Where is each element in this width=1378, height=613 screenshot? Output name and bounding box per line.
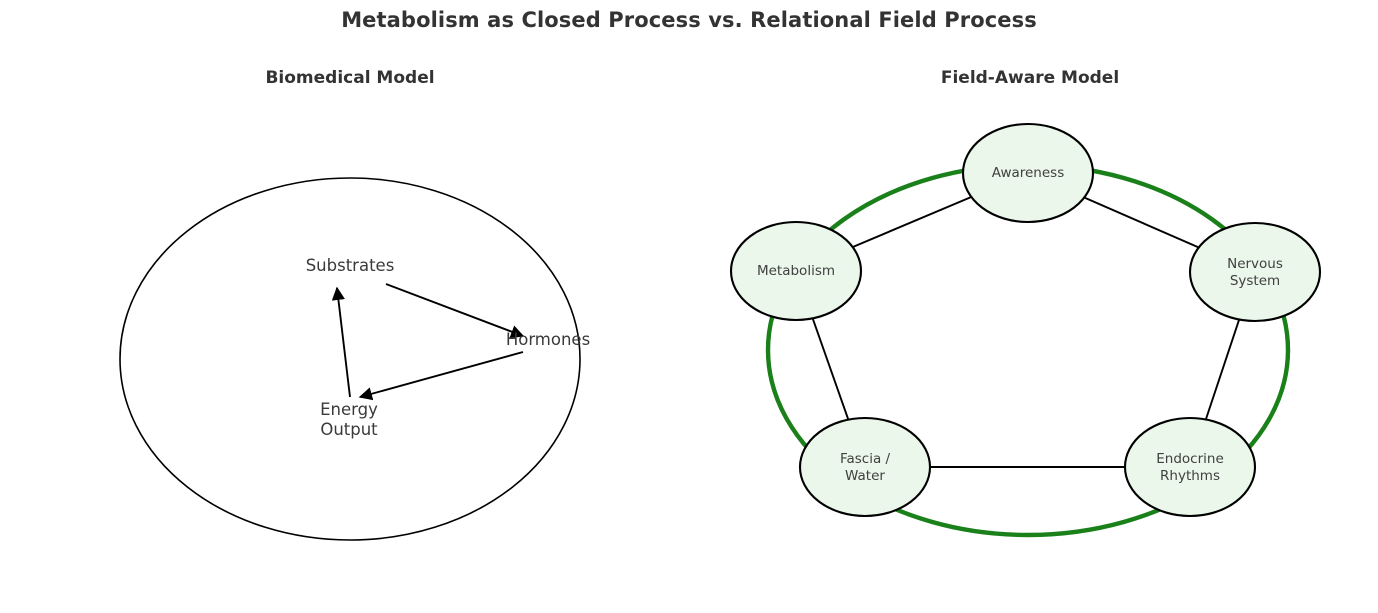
node-label-substrates: Substrates — [306, 256, 395, 275]
node-label-fascia_water: Fascia /Water — [840, 451, 891, 484]
node-label-awareness: Awareness — [992, 165, 1065, 181]
figure-canvas: Metabolism as Closed Process vs. Relatio… — [0, 0, 1378, 613]
node-label-nervous_system: NervousSystem — [1227, 256, 1283, 289]
node-nervous_system[interactable]: NervousSystem — [1190, 223, 1320, 321]
panel-biomedical: SubstratesHormonesEnergyOutput — [120, 178, 590, 540]
node-metabolism[interactable]: Metabolism — [731, 222, 861, 320]
node-label-metabolism: Metabolism — [757, 263, 835, 279]
node-awareness[interactable]: Awareness — [963, 124, 1093, 222]
node-shape-fascia_water[interactable] — [800, 418, 930, 516]
node-label-hormones: Hormones — [506, 330, 590, 349]
node-fascia_water[interactable]: Fascia /Water — [800, 418, 930, 516]
node-label-energy_output: EnergyOutput — [320, 400, 378, 439]
panel-field-aware: AwarenessNervousSystemEndocrineRhythmsFa… — [731, 124, 1320, 535]
edge-hormones-to-energy_output — [360, 352, 523, 397]
edge-energy_output-to-substrates — [337, 288, 350, 397]
closed-system-boundary — [120, 178, 580, 540]
node-endocrine_rhythms[interactable]: EndocrineRhythms — [1125, 418, 1255, 516]
node-shape-nervous_system[interactable] — [1190, 223, 1320, 321]
diagram-svg: SubstratesHormonesEnergyOutput Awareness… — [0, 0, 1378, 613]
node-label-endocrine_rhythms: EndocrineRhythms — [1156, 451, 1224, 484]
node-shape-endocrine_rhythms[interactable] — [1125, 418, 1255, 516]
edge-substrates-to-hormones — [386, 284, 523, 336]
